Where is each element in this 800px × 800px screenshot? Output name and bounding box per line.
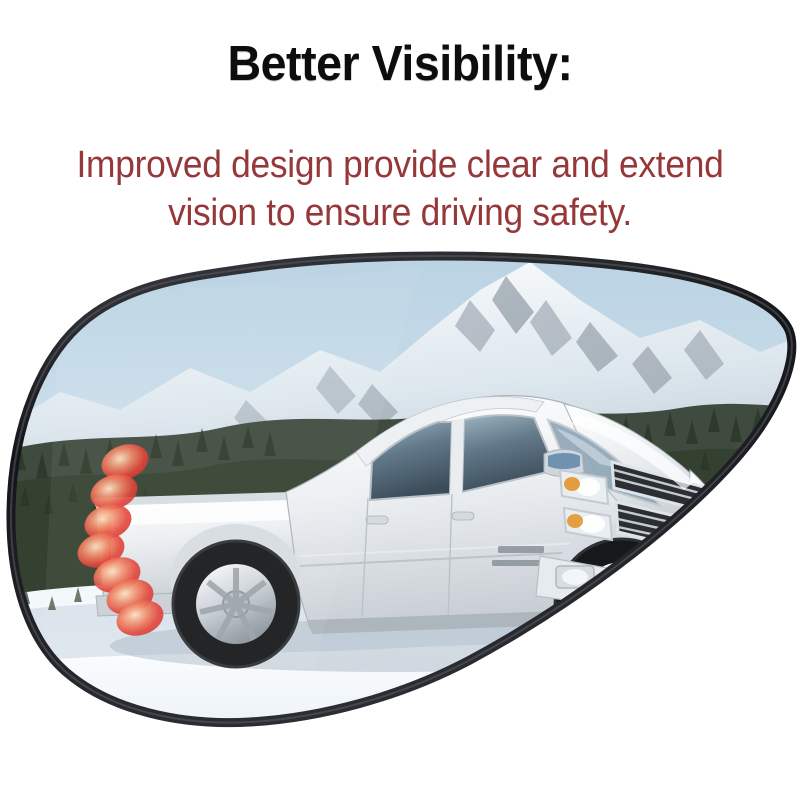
subtitle-line-1: Improved design provide clear and extend: [28, 144, 772, 187]
mirror-glass-reflection: [0, 243, 800, 743]
skid-plate: [616, 608, 726, 640]
page-title: Better Visibility:: [20, 36, 780, 92]
lower-air-dam: [604, 586, 712, 620]
mirror-product-image: [0, 243, 800, 743]
front-door-handle: [452, 512, 474, 520]
mirror-illustration: [0, 243, 800, 743]
subtitle-line-2: vision to ensure driving safety.: [28, 192, 772, 235]
rear-door-handle: [366, 516, 388, 524]
product-marketing-banner: Better Visibility: Improved design provi…: [0, 0, 800, 800]
